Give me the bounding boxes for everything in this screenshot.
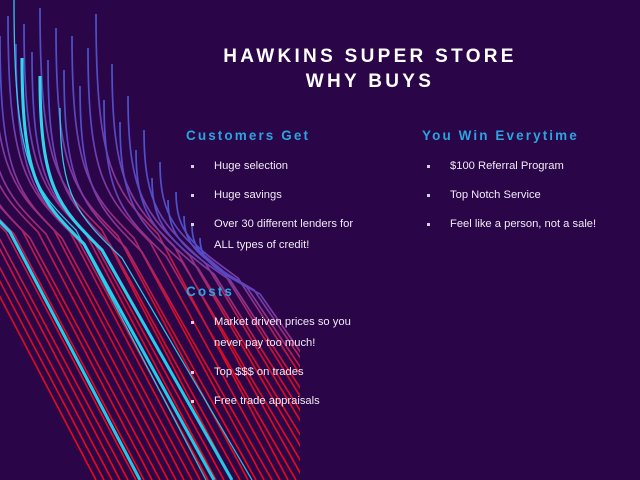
bullet-list-you-win-everytime: $100 Referral Program Top Notch Service … — [422, 156, 627, 235]
section-costs: Costs Market driven prices so you never … — [186, 284, 401, 420]
bullet-text: Top $$$ on trades — [214, 362, 401, 383]
list-item: Market driven prices so you never pay to… — [186, 312, 401, 354]
list-item: Top Notch Service — [422, 185, 627, 206]
list-item: Huge savings — [186, 185, 401, 206]
bullet-list-customers-get: Huge selection Huge savings Over 30 diff… — [186, 156, 401, 256]
section-heading-costs: Costs — [186, 284, 401, 299]
bullet-text: $100 Referral Program — [450, 156, 627, 177]
section-heading-customers-get: Customers Get — [186, 128, 401, 143]
bullet-list-costs: Market driven prices so you never pay to… — [186, 312, 401, 412]
bullet-text: Market driven prices so you — [214, 312, 401, 333]
bullet-text: Huge savings — [214, 185, 401, 206]
list-item: Feel like a person, not a sale! — [422, 214, 627, 235]
page-title: HAWKINS SUPER STORE WHY BUYS — [160, 44, 580, 94]
bullet-text: Feel like a person, not a sale! — [450, 214, 627, 235]
bullet-text: Top Notch Service — [450, 185, 627, 206]
title-line-2: WHY BUYS — [160, 69, 580, 94]
section-you-win-everytime: You Win Everytime $100 Referral Program … — [422, 128, 627, 243]
title-line-1: HAWKINS SUPER STORE — [160, 44, 580, 69]
list-item: $100 Referral Program — [422, 156, 627, 177]
bullet-text: Over 30 different lenders for — [214, 214, 401, 235]
slide-canvas: HAWKINS SUPER STORE WHY BUYS Customers G… — [0, 0, 640, 480]
section-customers-get: Customers Get Huge selection Huge saving… — [186, 128, 401, 264]
bullet-text: Free trade appraisals — [214, 391, 401, 412]
section-heading-you-win-everytime: You Win Everytime — [422, 128, 627, 143]
bullet-text-continued: ALL types of credit! — [214, 235, 401, 256]
list-item: Free trade appraisals — [186, 391, 401, 412]
list-item: Over 30 different lenders for ALL types … — [186, 214, 401, 256]
bullet-text-continued: never pay too much! — [214, 333, 401, 354]
list-item: Top $$$ on trades — [186, 362, 401, 383]
list-item: Huge selection — [186, 156, 401, 177]
bullet-text: Huge selection — [214, 156, 401, 177]
